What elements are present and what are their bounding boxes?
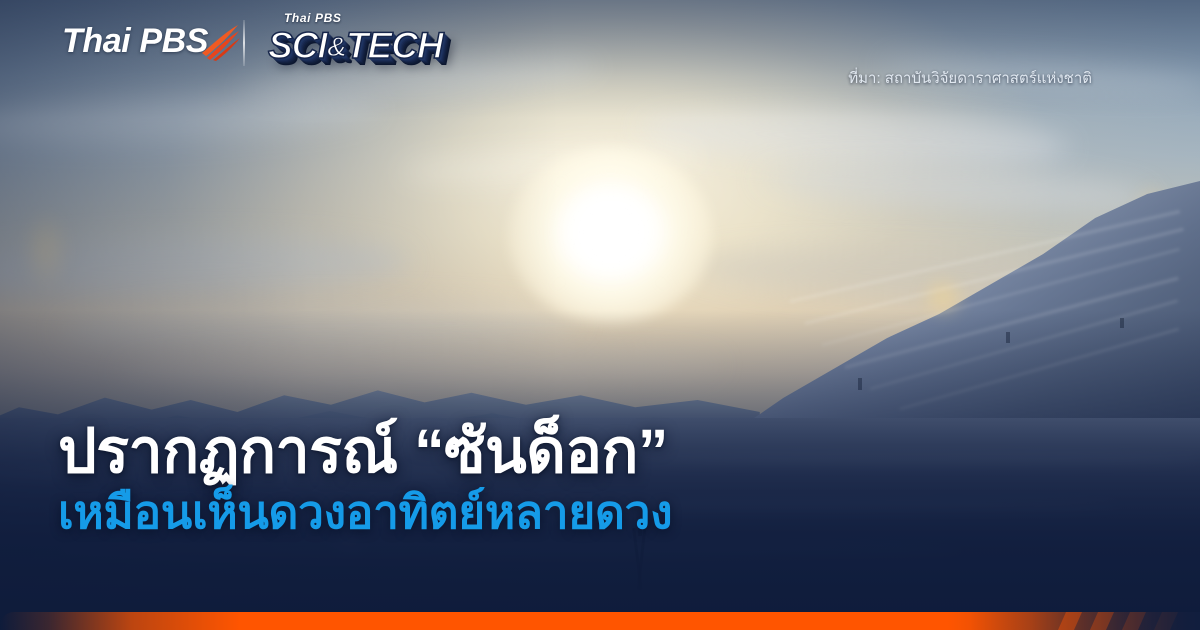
thaipbs-logo[interactable]: Thai PBS [62,22,240,61]
vertical-divider-icon [243,20,245,66]
scitech-superbrand: Thai PBS [284,12,443,24]
scitech-sci: SCI [268,25,327,66]
source-credit: ที่มา: สถาบันวิจัยดาราศาสตร์แห่งชาติ [848,66,1092,90]
thaipbs-wordmark: Thai PBS [62,22,208,61]
scitech-tech: TECH [346,25,443,66]
bar-fade-mask [970,612,1200,630]
scitech-wordmark: SCI&TECH [268,27,443,64]
social-card: Thai PBS Thai PBS SCI&TECH ที่มา: สถาบัน… [0,0,1200,630]
headline-block: ปรากฏการณ์ “ซันด็อก” เหมือนเห็นดวงอาทิตย… [58,419,672,538]
page-subtitle: เหมือนเห็นดวงอาทิตย์หลายดวง [58,487,672,538]
scitech-ampersand: & [327,31,346,62]
logo-bar: Thai PBS Thai PBS SCI&TECH ที่มา: สถาบัน… [0,0,1200,92]
scitech-logo[interactable]: Thai PBS SCI&TECH [268,12,443,64]
page-title: ปรากฏการณ์ “ซันด็อก” [58,419,672,484]
pbs-swoosh-icon [198,23,240,61]
bottom-accent-bar [0,612,1200,630]
sun-core-icon [556,186,666,278]
